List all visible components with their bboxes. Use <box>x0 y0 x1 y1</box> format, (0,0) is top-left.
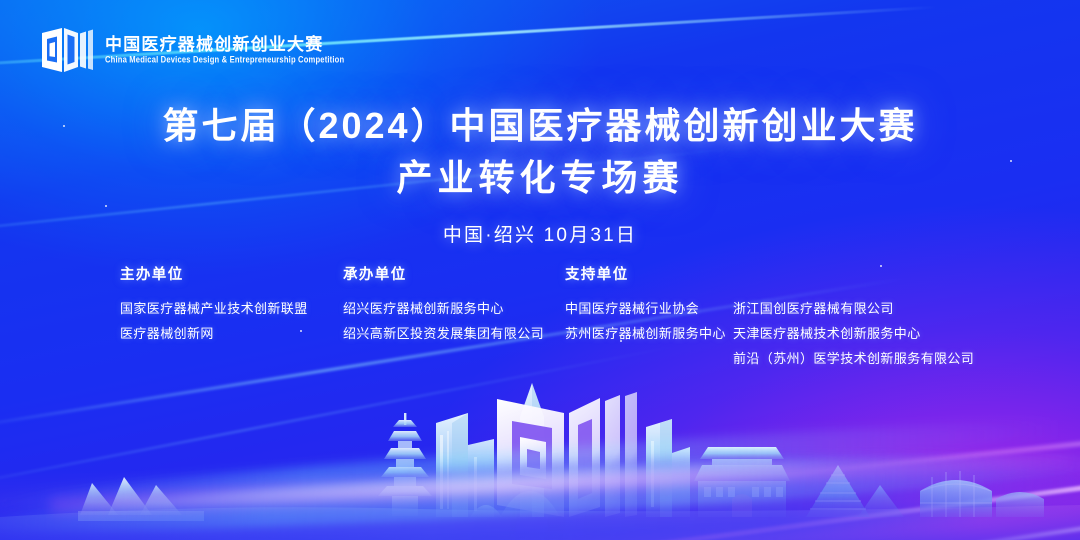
sponsor-item: 国家医疗器械产业技术创新联盟 <box>120 296 308 321</box>
sponsor-item: 医疗器械创新网 <box>120 321 308 346</box>
page-title-line-2: 产业转化专场赛 <box>0 152 1080 204</box>
logo-title-en: China Medical Devices Design & Entrepren… <box>105 56 344 65</box>
sponsor-item: 中国医疗器械行业协会 <box>565 296 726 321</box>
sponsor-item: 天津医疗器械技术创新服务中心 <box>733 321 974 346</box>
sponsor-column-heading: 支持单位 <box>565 268 726 283</box>
sponsor-column-organizer: 主办单位 国家医疗器械产业技术创新联盟 医疗器械创新网 <box>120 268 308 346</box>
open-book-door-logo-icon <box>40 26 94 74</box>
sponsor-item: 苏州医疗器械创新服务中心 <box>565 321 726 346</box>
pagoda-icon <box>378 413 432 516</box>
sponsor-column-supporter-continued: 支持单位 浙江国创医疗器械有限公司 天津医疗器械技术创新服务中心 前沿（苏州）医… <box>733 268 974 371</box>
sponsor-item: 绍兴医疗器械创新服务中心 <box>343 296 544 321</box>
page-title-line-1: 第七届（2024）中国医疗器械创新创业大赛 <box>0 100 1080 152</box>
skyscraper-icon <box>436 413 494 517</box>
event-poster: 中国医疗器械创新创业大赛 China Medical Devices Desig… <box>0 0 1080 540</box>
header-logo: 中国医疗器械创新创业大赛 China Medical Devices Desig… <box>40 26 344 74</box>
sponsor-column-supporter: 支持单位 中国医疗器械行业协会 苏州医疗器械创新服务中心 <box>565 268 726 346</box>
competition-logo-monument-icon <box>497 392 637 517</box>
sponsor-column-heading: 主办单位 <box>120 268 308 283</box>
hero-block: 第七届（2024）中国医疗器械创新创业大赛 产业转化专场赛 中国·绍兴 10月3… <box>0 100 1080 247</box>
event-place-date: 中国·绍兴 10月31日 <box>0 220 1080 247</box>
sparkle-icon <box>880 265 882 267</box>
logo-title-cn: 中国医疗器械创新创业大赛 <box>105 36 344 53</box>
sponsor-item: 绍兴高新区投资发展集团有限公司 <box>343 321 544 346</box>
sponsor-column-host: 承办单位 绍兴医疗器械创新服务中心 绍兴高新区投资发展集团有限公司 <box>343 268 544 346</box>
glass-tower-icon <box>646 419 690 517</box>
sponsor-column-heading: 承办单位 <box>343 268 544 283</box>
city-skyline-illustration <box>0 365 1080 540</box>
sponsor-item: 浙江国创医疗器械有限公司 <box>733 296 974 321</box>
sponsor-columns: 主办单位 国家医疗器械产业技术创新联盟 医疗器械创新网 承办单位 绍兴医疗器械创… <box>0 268 1080 378</box>
traditional-gate-tower-icon <box>694 447 790 517</box>
